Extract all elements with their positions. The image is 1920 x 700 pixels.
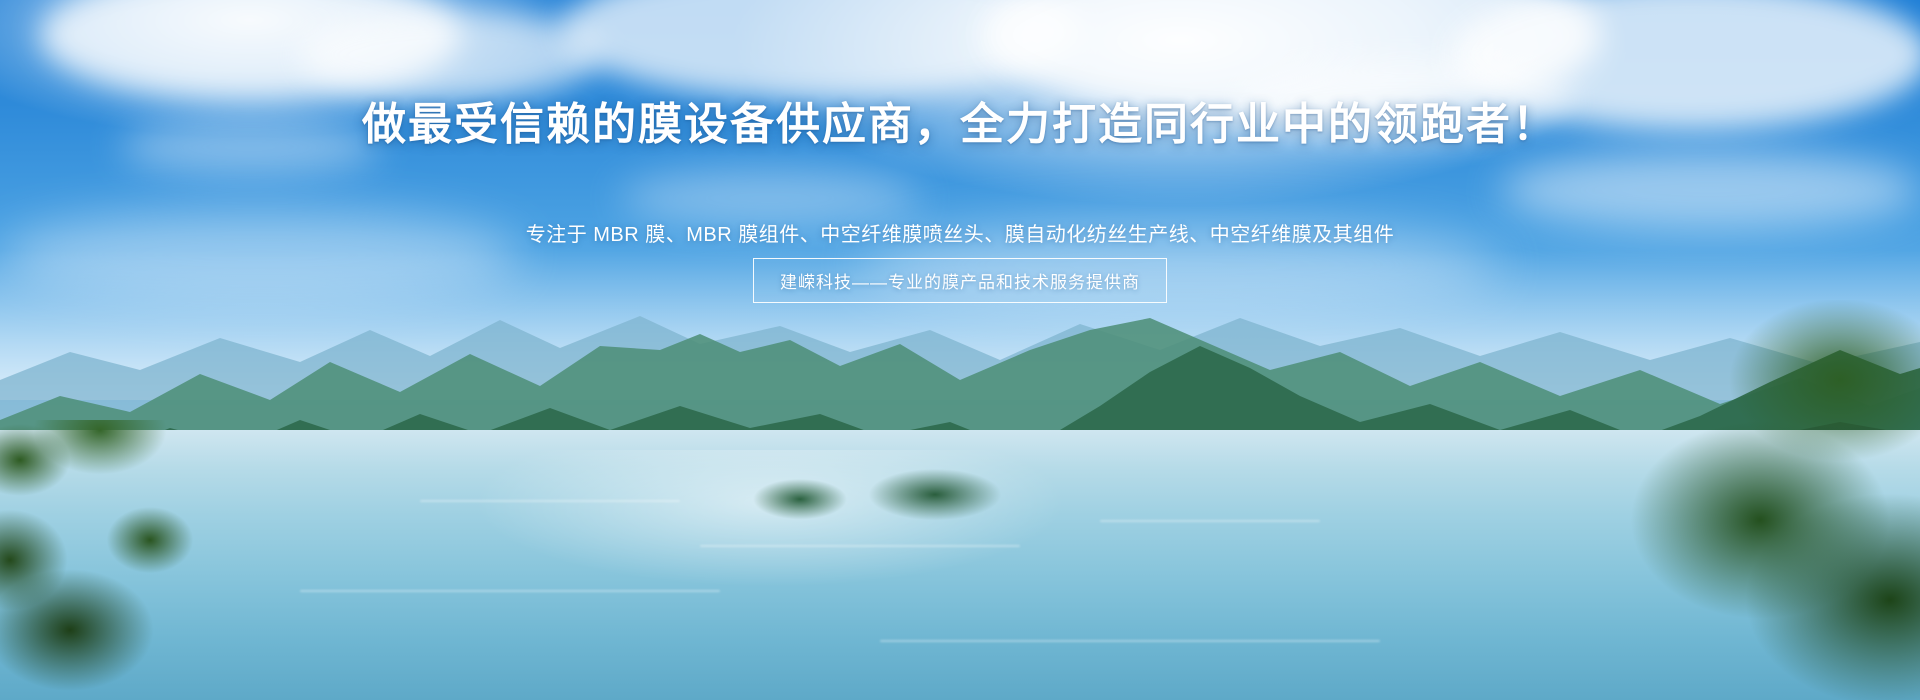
- banner-tagline-box: 建嵘科技——专业的膜产品和技术服务提供商: [753, 258, 1167, 303]
- foreground-foliage-right: [1510, 300, 1920, 700]
- banner-subheadline: 专注于 MBR 膜、MBR 膜组件、中空纤维膜喷丝头、膜自动化纺丝生产线、中空纤…: [0, 218, 1920, 247]
- water-ripple: [300, 590, 720, 592]
- lake-island: [850, 455, 1020, 521]
- water-ripple: [700, 545, 1020, 547]
- water-ripple: [880, 640, 1380, 642]
- lake-island: [740, 468, 860, 520]
- banner-headline: 做最受信赖的膜设备供应商，全力打造同行业中的领跑者！: [0, 100, 1920, 151]
- cloud-shape: [300, 10, 600, 100]
- foreground-foliage-left: [0, 420, 210, 700]
- water-ripple: [420, 500, 680, 502]
- water-ripple: [1100, 520, 1320, 522]
- banner-tagline-wrapper: 建嵘科技——专业的膜产品和技术服务提供商: [0, 258, 1920, 303]
- hero-banner: 做最受信赖的膜设备供应商，全力打造同行业中的领跑者！ 专注于 MBR 膜、MBR…: [0, 0, 1920, 700]
